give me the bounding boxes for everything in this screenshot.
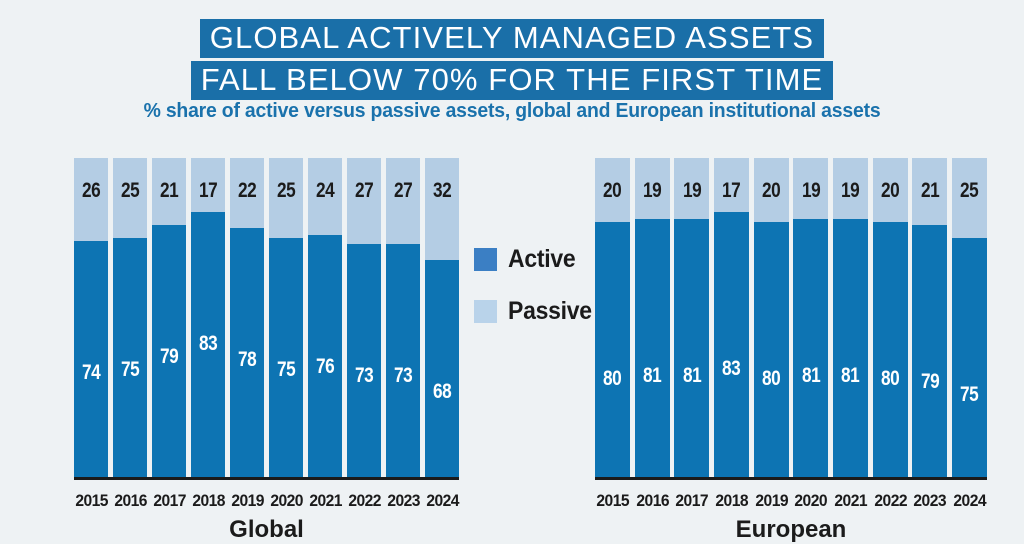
x-axis-tick-label: 2016 — [636, 491, 668, 511]
bar-segment-active: 80 — [873, 222, 908, 478]
bar-segment-active: 83 — [714, 212, 749, 478]
chart-subtitle: % share of active versus passive assets,… — [15, 99, 1008, 123]
bar-value-active: 74 — [82, 362, 100, 383]
x-axis-tick-label: 2021 — [309, 491, 340, 511]
x-axis-tick-label: 2022 — [348, 491, 379, 511]
bar-segment-active: 73 — [347, 244, 381, 478]
bar-value-passive: 17 — [199, 180, 217, 201]
plot-area-global: 2674257521791783227825752476277327733268 — [74, 150, 459, 486]
stacked-bar: 2080 — [754, 158, 789, 478]
bar-value-active: 81 — [683, 365, 701, 386]
bar-segment-passive: 21 — [912, 158, 947, 225]
bar-value-passive: 17 — [722, 180, 740, 201]
bar-segment-active: 74 — [74, 241, 108, 478]
bar-value-active: 79 — [921, 371, 939, 392]
stacked-bar: 2773 — [347, 158, 381, 478]
bar-segment-passive: 25 — [269, 158, 303, 238]
x-axis-line-global — [74, 477, 459, 480]
bar-value-active: 81 — [841, 365, 859, 386]
stacked-bar: 2674 — [74, 158, 108, 478]
bar-segment-passive: 19 — [833, 158, 868, 219]
panel-caption-global: Global — [74, 516, 459, 544]
bar-segment-passive: 25 — [952, 158, 987, 238]
bar-segment-passive: 17 — [191, 158, 225, 212]
bar-group-global: 2674257521791783227825752476277327733268 — [74, 158, 459, 478]
stacked-bar: 2278 — [230, 158, 264, 478]
legend-label-passive: Passive — [508, 297, 592, 326]
panel-caption-european: European — [595, 516, 987, 544]
x-axis-tick-label: 2021 — [834, 491, 866, 511]
bar-value-active: 75 — [960, 384, 978, 405]
stacked-bar: 2179 — [152, 158, 186, 478]
bar-segment-active: 80 — [754, 222, 789, 478]
bar-value-passive: 26 — [82, 180, 100, 201]
bar-value-passive: 19 — [841, 180, 859, 201]
bar-segment-passive: 21 — [152, 158, 186, 225]
bar-value-active: 80 — [603, 368, 621, 389]
bar-segment-active: 81 — [793, 219, 828, 478]
x-axis-tick-label: 2019 — [755, 491, 787, 511]
bar-value-passive: 19 — [802, 180, 820, 201]
x-axis-tick-label: 2016 — [114, 491, 145, 511]
legend-label-active: Active — [508, 245, 575, 274]
x-axis-tick-label: 2020 — [795, 491, 827, 511]
chart-panel-global: 2674257521791783227825752476277327733268… — [74, 150, 459, 486]
bar-segment-active: 79 — [152, 225, 186, 478]
bar-segment-passive: 22 — [230, 158, 264, 228]
bar-segment-passive: 27 — [386, 158, 420, 244]
title-block: GLOBAL ACTIVELY MANAGED ASSETS FALL BELO… — [0, 19, 1024, 100]
bar-segment-active: 75 — [269, 238, 303, 478]
bar-segment-active: 68 — [425, 260, 459, 478]
bar-segment-passive: 17 — [714, 158, 749, 212]
bar-segment-active: 75 — [113, 238, 147, 478]
stacked-bar: 3268 — [425, 158, 459, 478]
bar-value-active: 79 — [160, 346, 178, 367]
bar-value-passive: 21 — [921, 180, 939, 201]
title-line-1: GLOBAL ACTIVELY MANAGED ASSETS — [200, 19, 824, 58]
bar-value-passive: 20 — [881, 180, 899, 201]
bar-value-active: 73 — [355, 365, 373, 386]
bar-segment-passive: 19 — [674, 158, 709, 219]
bar-value-active: 83 — [199, 333, 217, 354]
bar-segment-active: 76 — [308, 235, 342, 478]
bar-segment-active: 78 — [230, 228, 264, 478]
bar-segment-passive: 25 — [113, 158, 147, 238]
x-axis-tick-label: 2015 — [596, 491, 628, 511]
stacked-bar: 1783 — [714, 158, 749, 478]
stacked-bar: 2476 — [308, 158, 342, 478]
bar-segment-passive: 26 — [74, 158, 108, 241]
bar-segment-active: 81 — [833, 219, 868, 478]
stacked-bar: 2773 — [386, 158, 420, 478]
x-axis-tick-label: 2018 — [192, 491, 223, 511]
bar-value-active: 81 — [802, 365, 820, 386]
stacked-bar: 2080 — [595, 158, 630, 478]
stacked-bar: 2575 — [113, 158, 147, 478]
bar-segment-passive: 20 — [754, 158, 789, 222]
bar-value-passive: 25 — [960, 180, 978, 201]
bar-segment-active: 73 — [386, 244, 420, 478]
bar-segment-active: 79 — [912, 225, 947, 478]
x-axis-tick-label: 2015 — [75, 491, 106, 511]
bar-value-active: 73 — [394, 365, 412, 386]
x-axis-tick-label: 2020 — [270, 491, 301, 511]
bar-segment-passive: 27 — [347, 158, 381, 244]
bar-value-passive: 32 — [433, 180, 451, 201]
bar-segment-passive: 32 — [425, 158, 459, 260]
bar-value-passive: 21 — [160, 180, 178, 201]
stacked-bar: 1981 — [833, 158, 868, 478]
bar-value-active: 75 — [121, 359, 139, 380]
stacked-bar: 1783 — [191, 158, 225, 478]
infographic-root: GLOBAL ACTIVELY MANAGED ASSETS FALL BELO… — [0, 0, 1024, 536]
stacked-bar: 1981 — [635, 158, 670, 478]
bar-value-active: 76 — [316, 356, 334, 377]
bar-value-passive: 20 — [762, 180, 780, 201]
x-axis-tick-label: 2017 — [676, 491, 708, 511]
stacked-bar: 2080 — [873, 158, 908, 478]
bar-value-passive: 20 — [603, 180, 621, 201]
bar-segment-passive: 20 — [595, 158, 630, 222]
x-axis-tick-label: 2023 — [914, 491, 946, 511]
chart-legend: Active Passive — [474, 245, 599, 349]
bar-value-passive: 22 — [238, 180, 256, 201]
x-axis-tick-label: 2022 — [874, 491, 906, 511]
legend-swatch-passive-icon — [474, 300, 497, 323]
bar-segment-active: 81 — [674, 219, 709, 478]
chart-panel-european: 2080198119811783208019811981208021792575… — [595, 150, 987, 486]
bar-segment-active: 80 — [595, 222, 630, 478]
legend-item-passive[interactable]: Passive — [474, 297, 599, 326]
bar-segment-passive: 24 — [308, 158, 342, 235]
bar-segment-passive: 19 — [635, 158, 670, 219]
legend-item-active[interactable]: Active — [474, 245, 599, 274]
x-axis-tick-label: 2018 — [715, 491, 747, 511]
x-axis-tick-label: 2024 — [953, 491, 985, 511]
x-axis-labels-european: 2015201620172018201920202021202220232024 — [595, 491, 987, 511]
x-axis-tick-label: 2019 — [231, 491, 262, 511]
bar-value-passive: 25 — [277, 180, 295, 201]
x-axis-tick-label: 2017 — [153, 491, 184, 511]
bar-value-passive: 19 — [643, 180, 661, 201]
stacked-bar: 1981 — [674, 158, 709, 478]
x-axis-labels-global: 2015201620172018201920202021202220232024 — [74, 491, 459, 511]
bar-value-active: 78 — [238, 349, 256, 370]
title-line-2: FALL BELOW 70% FOR THE FIRST TIME — [191, 61, 834, 100]
bar-value-active: 68 — [433, 381, 451, 402]
bar-segment-active: 83 — [191, 212, 225, 478]
x-axis-line-european — [595, 477, 987, 480]
x-axis-tick-label: 2024 — [426, 491, 457, 511]
legend-swatch-active-icon — [474, 248, 497, 271]
bar-value-passive: 19 — [683, 180, 701, 201]
bar-value-active: 75 — [277, 359, 295, 380]
stacked-bar: 2575 — [269, 158, 303, 478]
stacked-bar: 1981 — [793, 158, 828, 478]
bar-segment-passive: 20 — [873, 158, 908, 222]
bar-value-passive: 27 — [394, 180, 412, 201]
plot-area-european: 2080198119811783208019811981208021792575 — [595, 150, 987, 486]
bar-value-active: 80 — [881, 368, 899, 389]
bar-group-european: 2080198119811783208019811981208021792575 — [595, 158, 987, 478]
bar-segment-passive: 19 — [793, 158, 828, 219]
bar-value-active: 81 — [643, 365, 661, 386]
bar-value-active: 83 — [722, 358, 740, 379]
bar-value-passive: 24 — [316, 180, 334, 201]
bar-segment-active: 81 — [635, 219, 670, 478]
bar-value-active: 80 — [762, 368, 780, 389]
x-axis-tick-label: 2023 — [387, 491, 418, 511]
stacked-bar: 2575 — [952, 158, 987, 478]
stacked-bar: 2179 — [912, 158, 947, 478]
bar-value-passive: 27 — [355, 180, 373, 201]
bar-value-passive: 25 — [121, 180, 139, 201]
bar-segment-active: 75 — [952, 238, 987, 478]
